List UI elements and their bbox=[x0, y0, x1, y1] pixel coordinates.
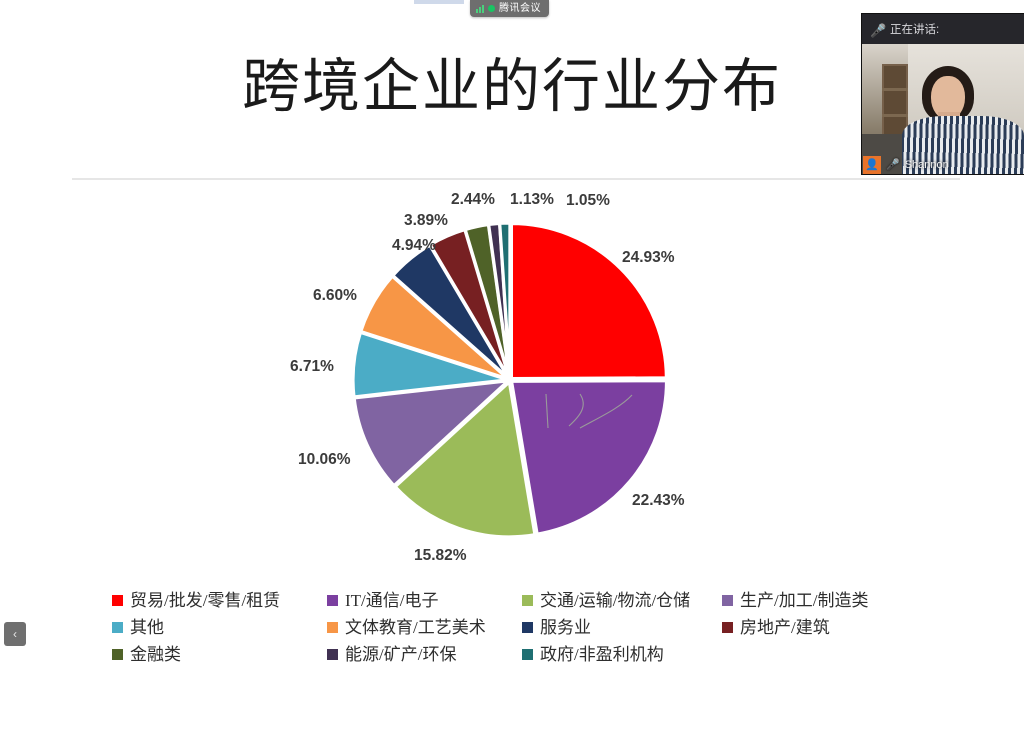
legend-item[interactable]: 能源/矿产/环保 bbox=[327, 646, 522, 663]
meeting-video-panel[interactable]: 🎤 正在讲话: 👤 🎤 Shannon bbox=[862, 14, 1024, 174]
legend-label: 房地产/建筑 bbox=[740, 619, 830, 636]
legend-row: 其他文体教育/工艺美术服务业房地产/建筑 bbox=[112, 619, 912, 646]
legend-label: 金融类 bbox=[130, 646, 181, 663]
pie-percentage-label: 4.94% bbox=[392, 237, 436, 255]
video-background-shelf-line bbox=[882, 88, 908, 91]
legend-item[interactable]: 交通/运输/物流/仓储 bbox=[522, 592, 722, 609]
chart-legend: 贸易/批发/零售/租赁IT/通信/电子交通/运输/物流/仓储生产/加工/制造类其… bbox=[112, 592, 912, 673]
legend-label: 能源/矿产/环保 bbox=[345, 646, 456, 663]
legend-color-swatch bbox=[327, 622, 338, 633]
video-panel-header: 🎤 正在讲话: bbox=[862, 14, 1024, 44]
legend-label: 交通/运输/物流/仓储 bbox=[540, 592, 690, 609]
background-browser-tab bbox=[414, 0, 464, 4]
microphone-icon: 🎤 bbox=[870, 22, 881, 37]
legend-item[interactable]: 金融类 bbox=[112, 646, 327, 663]
legend-item[interactable]: 其他 bbox=[112, 619, 327, 636]
legend-item[interactable]: 生产/加工/制造类 bbox=[722, 592, 912, 609]
green-dot-icon bbox=[488, 5, 495, 12]
pie-percentage-label: 15.82% bbox=[414, 547, 467, 565]
legend-row: 金融类能源/矿产/环保政府/非盈利机构 bbox=[112, 646, 912, 673]
legend-item[interactable]: IT/通信/电子 bbox=[327, 592, 522, 609]
pie-percentage-label: 6.60% bbox=[313, 287, 357, 305]
legend-row: 贸易/批发/零售/租赁IT/通信/电子交通/运输/物流/仓储生产/加工/制造类 bbox=[112, 592, 912, 619]
legend-color-swatch bbox=[522, 649, 533, 660]
pie-percentage-label: 6.71% bbox=[290, 358, 334, 376]
pie-chart-svg bbox=[60, 190, 960, 580]
legend-item[interactable]: 贸易/批发/零售/租赁 bbox=[112, 592, 327, 609]
legend-color-swatch bbox=[722, 622, 733, 633]
pie-percentage-label: 10.06% bbox=[298, 451, 351, 469]
legend-color-swatch bbox=[112, 649, 123, 660]
pie-percentage-label: 3.89% bbox=[404, 212, 448, 230]
chevron-left-icon: ‹ bbox=[13, 627, 17, 641]
speaking-status-label: 正在讲话: bbox=[890, 21, 939, 37]
pie-percentage-label: 2.44% bbox=[451, 191, 495, 209]
participant-footer: 👤 🎤 Shannon bbox=[862, 156, 1024, 174]
previous-slide-button[interactable]: ‹ bbox=[4, 622, 26, 646]
legend-color-swatch bbox=[327, 649, 338, 660]
legend-label: 文体教育/工艺美术 bbox=[345, 619, 486, 636]
pie-percentage-label: 24.93% bbox=[622, 249, 675, 267]
pie-slices bbox=[353, 223, 667, 537]
legend-label: 贸易/批发/零售/租赁 bbox=[130, 592, 280, 609]
legend-label: 生产/加工/制造类 bbox=[740, 592, 868, 609]
legend-label: 服务业 bbox=[540, 619, 591, 636]
legend-item[interactable]: 房地产/建筑 bbox=[722, 619, 912, 636]
title-divider bbox=[72, 178, 960, 180]
pie-slice bbox=[512, 381, 667, 535]
legend-item[interactable]: 文体教育/工艺美术 bbox=[327, 619, 522, 636]
pie-percentage-label: 22.43% bbox=[632, 492, 685, 510]
legend-color-swatch bbox=[112, 622, 123, 633]
legend-item[interactable]: 服务业 bbox=[522, 619, 722, 636]
legend-label: 其他 bbox=[130, 619, 164, 636]
pie-percentage-label: 1.13% bbox=[510, 191, 554, 209]
tencent-meeting-tab-label: 腾讯会议 bbox=[499, 4, 541, 14]
participant-video-feed[interactable]: 👤 🎤 Shannon bbox=[862, 44, 1024, 174]
microphone-icon[interactable]: 🎤 bbox=[886, 160, 900, 171]
legend-color-swatch bbox=[722, 595, 733, 606]
signal-bars-icon bbox=[476, 5, 484, 13]
tencent-meeting-tab[interactable]: 腾讯会议 bbox=[470, 0, 549, 17]
legend-color-swatch bbox=[522, 622, 533, 633]
legend-label: IT/通信/电子 bbox=[345, 592, 439, 609]
legend-color-swatch bbox=[327, 595, 338, 606]
legend-color-swatch bbox=[522, 595, 533, 606]
participant-name-label: Shannon bbox=[905, 159, 949, 171]
legend-color-swatch bbox=[112, 595, 123, 606]
pie-chart: 24.93%22.43%15.82%10.06%6.71%6.60%4.94%3… bbox=[60, 190, 960, 580]
legend-label: 政府/非盈利机构 bbox=[540, 646, 664, 663]
pie-slice bbox=[511, 224, 666, 379]
video-background-shelf-line bbox=[882, 114, 908, 117]
person-icon: 👤 bbox=[863, 156, 881, 174]
pie-percentage-label: 1.05% bbox=[566, 192, 610, 210]
legend-item[interactable]: 政府/非盈利机构 bbox=[522, 646, 722, 663]
